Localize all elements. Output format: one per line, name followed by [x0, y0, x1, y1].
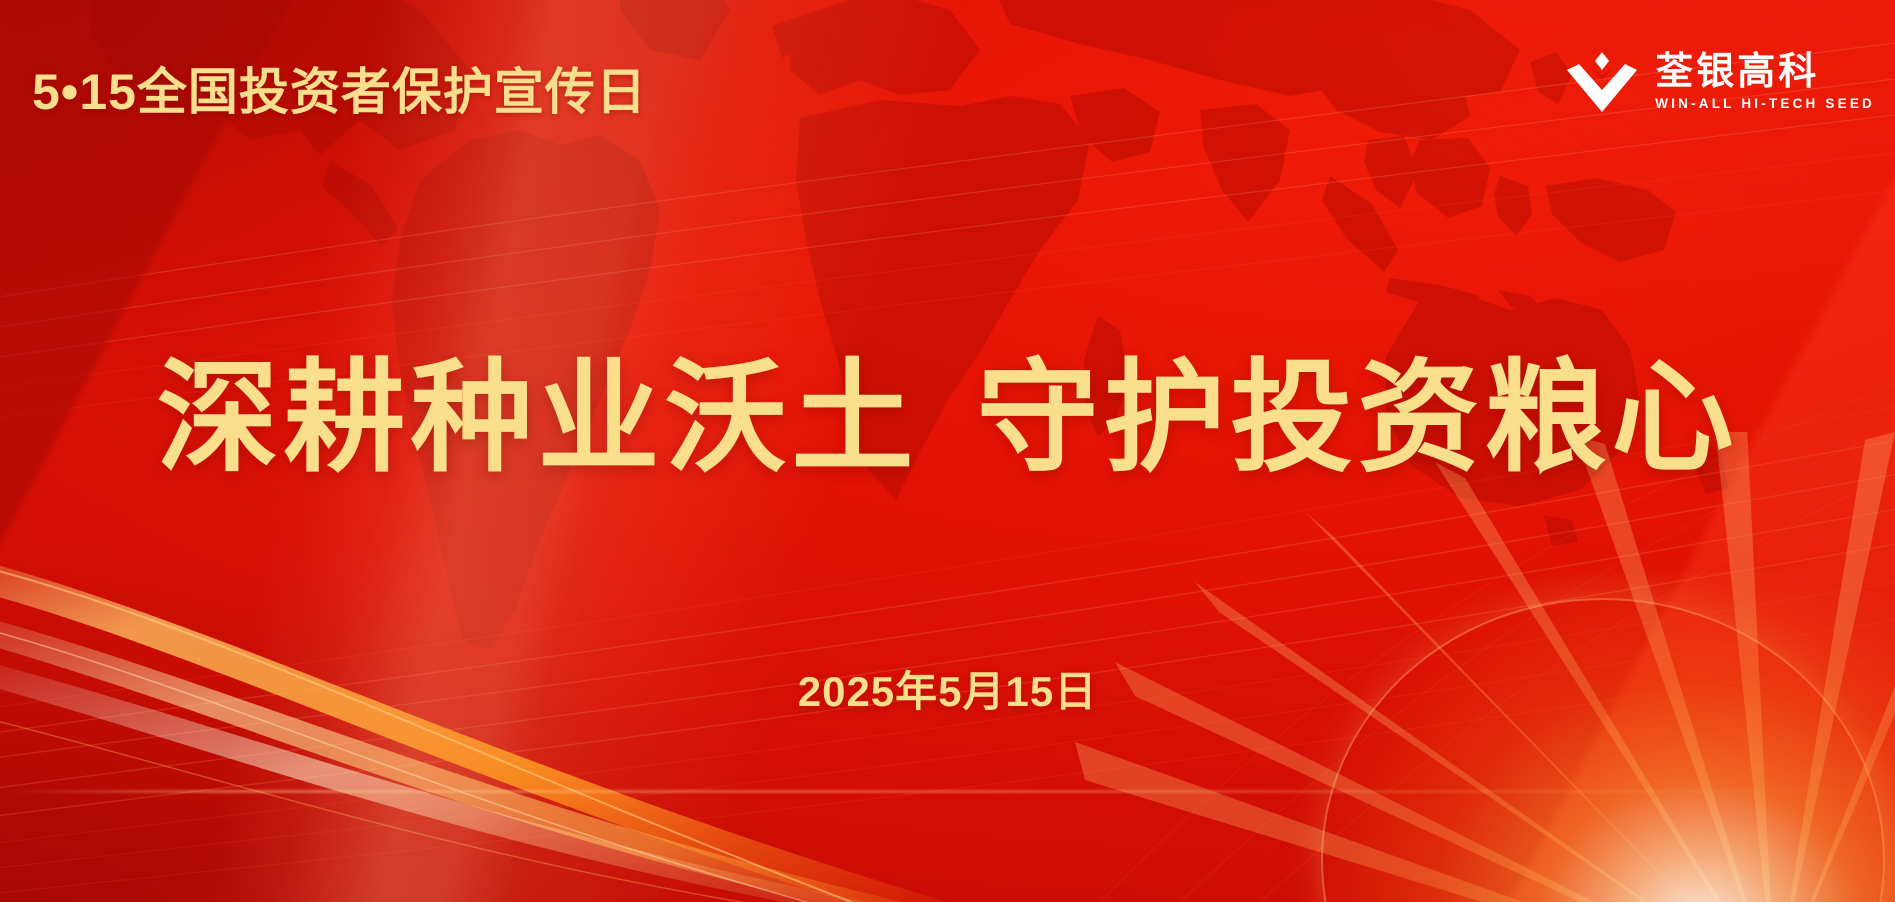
logo-wordmark: 荃银高科 WIN-ALL HI-TECH SEED — [1655, 53, 1875, 112]
horizontal-light-line — [0, 790, 1895, 793]
company-logo: 荃银高科 WIN-ALL HI-TECH SEED — [1565, 50, 1875, 116]
headline-segment-right: 守护投资粮心 — [977, 350, 1739, 487]
headline-segment-left: 深耕种业沃土 — [157, 350, 919, 487]
logo-name-en: WIN-ALL HI-TECH SEED — [1655, 96, 1875, 112]
headline: 深耕种业沃土守护投资粮心 — [0, 350, 1895, 487]
sprout-chevron-icon — [1565, 50, 1639, 116]
event-date: 2025年5月15日 — [0, 658, 1895, 719]
campaign-kicker: 5•15全国投资者保护宣传日 — [32, 52, 647, 124]
poster-canvas: 5•15全国投资者保护宣传日 荃银高科 WIN-ALL HI-TECH SEED… — [0, 0, 1895, 902]
sunburst-core-glow — [1315, 572, 1895, 902]
logo-name-cn: 荃银高科 — [1655, 53, 1875, 93]
